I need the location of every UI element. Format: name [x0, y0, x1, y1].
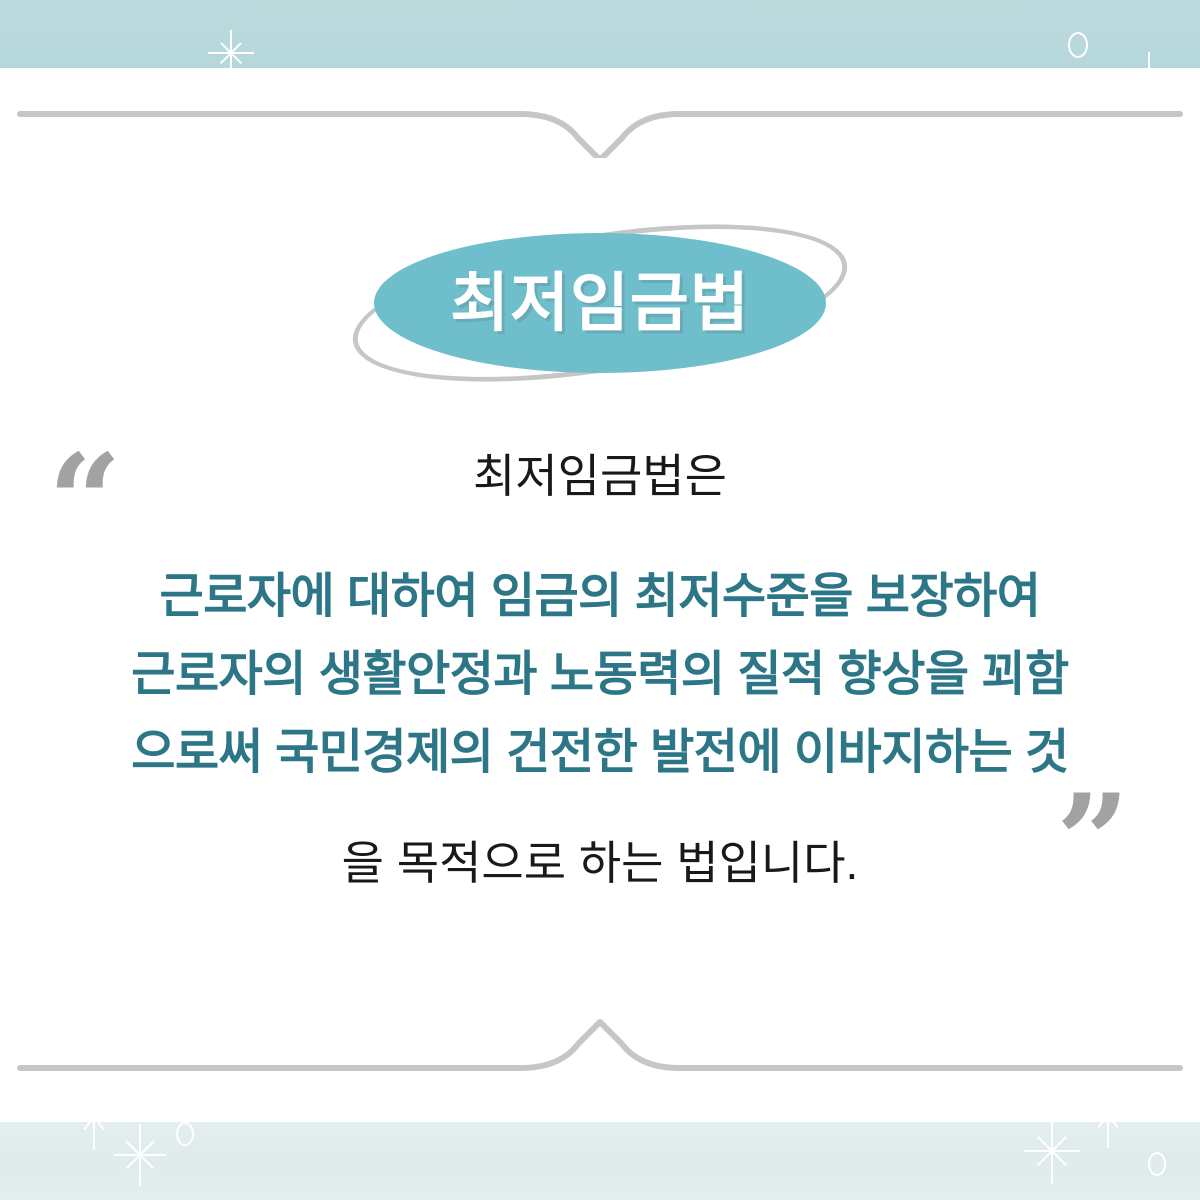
lead-text: 최저임금법은	[0, 448, 1200, 506]
title-pill: 최저임금법	[374, 233, 826, 373]
divider-top-line	[0, 88, 1200, 158]
info-card: 최저임금법 “ ” 최저임금법은 근로자에 대하여 임금의 최저수준을 보장하여…	[0, 0, 1200, 1200]
bottom-decorative-band	[0, 1122, 1200, 1200]
sparkle-icon	[1024, 1122, 1080, 1184]
circle-icon	[1148, 1152, 1166, 1176]
top-decorative-band	[0, 0, 1200, 68]
sparkle-icon	[208, 30, 254, 68]
arrow-up-icon	[80, 1122, 108, 1150]
body-text-block: 근로자에 대하여 임금의 최저수준을 보장하여 근로자의 생활안정과 노동력의 …	[0, 558, 1200, 791]
arrow-up-icon	[1094, 1122, 1122, 1148]
closing-text: 을 목적으로 하는 법입니다.	[0, 835, 1200, 893]
divider-bottom-line	[0, 1018, 1200, 1088]
title-block: 최저임금법	[0, 198, 1200, 408]
body-line: 으로써 국민경제의 건전한 발전에 이바지하는 것	[0, 714, 1200, 792]
sparkle-icon	[114, 1124, 166, 1186]
divider-bottom	[0, 1018, 1200, 1088]
tick-icon	[1148, 52, 1150, 68]
page-title: 최저임금법	[450, 271, 749, 335]
circle-icon	[176, 1122, 194, 1146]
body-line: 근로자의 생활안정과 노동력의 질적 향상을 꾀함	[0, 636, 1200, 714]
divider-top	[0, 88, 1200, 158]
circle-icon	[1068, 32, 1088, 58]
body-line: 근로자에 대하여 임금의 최저수준을 보장하여	[0, 558, 1200, 636]
